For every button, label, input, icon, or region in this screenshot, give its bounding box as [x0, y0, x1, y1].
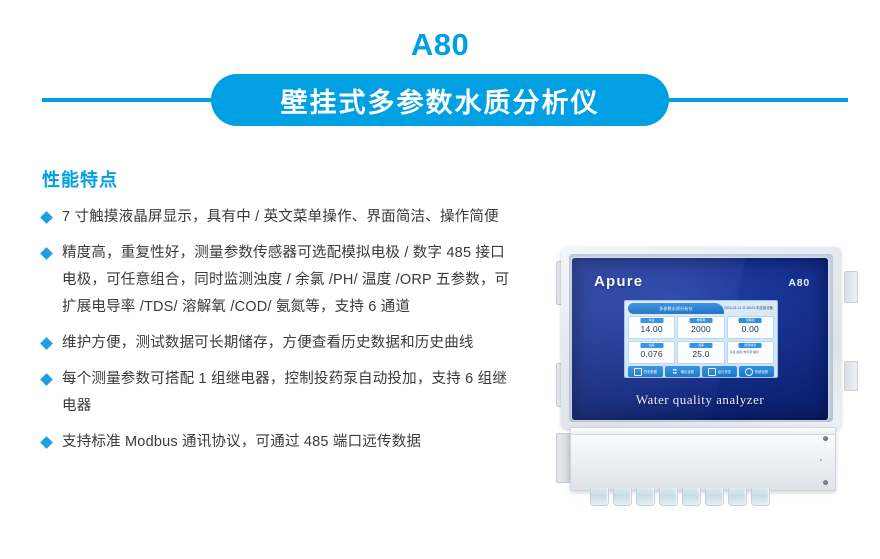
alarm-line-1: 余氯 超标 电导率 超标: [730, 350, 771, 354]
cable-gland: [636, 488, 655, 506]
cable-gland: [682, 488, 701, 506]
lcd-status-text: 2024-01-11 11:26:03 未连接设备: [724, 304, 773, 313]
measurement-value: 0.076: [629, 349, 674, 359]
list-item-text: 支持标准 Modbus 通讯协议，可通过 485 端口远传数据: [62, 434, 421, 450]
features-list: 7 寸触摸液晶屏显示，具有中 / 英文菜单操作、界面简洁、操作简便 精度高，重复…: [42, 204, 512, 456]
measurement-label: 电导率: [689, 318, 712, 323]
banner-rule-right: [658, 98, 848, 102]
measurement-label: 溶解氧: [739, 318, 762, 323]
banner-rule-left: [42, 98, 222, 102]
diamond-bullet-icon: [40, 211, 53, 224]
lcd-titlebar: 多参数水质分析仪 2024-01-11 11:26:03 未连接设备: [628, 303, 774, 314]
cable-gland: [613, 488, 632, 506]
measurement-label: 浊度: [640, 343, 663, 348]
measurement-value: 25.0: [678, 349, 723, 359]
cable-gland-row: [590, 488, 770, 506]
measurement-value: 0.00: [728, 324, 773, 334]
lcd-measurement-grid: 余氯 14.00 电导率 2000 溶解氧 0.00 浊度 0.076 温度: [625, 316, 777, 364]
cable-gland: [590, 488, 609, 506]
mounting-flange-right-top: [844, 271, 858, 303]
diamond-bullet-icon: [40, 373, 53, 386]
list-item-text: 每个测量参数可搭配 1 组继电器，控制投药泵自动投加，支持 6 组继电器: [62, 371, 507, 414]
lcd-display[interactable]: 多参数水质分析仪 2024-01-11 11:26:03 未连接设备 余氯 14…: [624, 300, 778, 378]
list-item: 支持标准 Modbus 通讯协议，可通过 485 端口远传数据: [42, 429, 512, 456]
gear-icon: [745, 368, 753, 376]
nav-button-system-settings[interactable]: 系统设置: [739, 366, 774, 377]
nav-button-run-status[interactable]: 运行状态: [702, 366, 737, 377]
data-record-icon: [634, 368, 642, 376]
measurement-tile[interactable]: 余氯 14.00: [628, 316, 675, 339]
measurement-value: 14.00: [629, 324, 674, 334]
list-item: 维护方便，测试数据可长期储存，方便查看历史数据和历史曲线: [42, 330, 512, 357]
measurement-label: 温度: [689, 343, 712, 348]
alarm-tile[interactable]: 报警信息 余氯 超标 电导率 超标: [727, 341, 774, 364]
device-faceplate: Apure A80 多参数水质分析仪 2024-01-11 11:26:03 未…: [572, 258, 828, 420]
product-photo: Apure A80 多参数水质分析仪 2024-01-11 11:26:03 未…: [548, 243, 866, 559]
screw-icon: [823, 480, 828, 485]
measurement-tile[interactable]: 溶解氧 0.00: [727, 316, 774, 339]
monitor-icon: [708, 368, 716, 376]
screw-icon: [823, 436, 828, 441]
list-item: 每个测量参数可搭配 1 组继电器，控制投药泵自动投加，支持 6 组继电器: [42, 366, 512, 420]
features-section: 性能特点 7 寸触摸液晶屏显示，具有中 / 英文菜单操作、界面简洁、操作简便 精…: [42, 168, 512, 465]
measurement-label: 余氯: [640, 318, 663, 323]
nav-button-label: 系统设置: [755, 369, 768, 374]
banner-title-pill: 壁挂式多参数水质分析仪: [211, 74, 669, 126]
measurement-value: 2000: [678, 324, 723, 334]
device-model-badge: A80: [788, 277, 810, 289]
nav-button-history-data[interactable]: 历史数据: [628, 366, 663, 377]
diamond-bullet-icon: [40, 247, 53, 260]
nav-button-label: 历史数据: [644, 369, 657, 374]
terminal-box-lip: [571, 428, 835, 435]
list-item-text: 精度高，重复性好，测量参数传感器可选配模拟电极 / 数字 485 接口电极，可任…: [62, 245, 509, 315]
grid-menu-icon: [671, 368, 679, 376]
title-banner-row: 壁挂式多参数水质分析仪: [0, 74, 880, 126]
cable-gland: [728, 488, 747, 506]
list-item-text: 维护方便，测试数据可长期储存，方便查看历史数据和历史曲线: [62, 335, 474, 351]
body-indicator-dot: [820, 459, 822, 461]
list-item: 7 寸触摸液晶屏显示，具有中 / 英文菜单操作、界面简洁、操作简便: [42, 204, 512, 231]
alarm-label: 报警信息: [739, 343, 762, 348]
brand-logo: Apure: [594, 273, 643, 290]
nav-button-output-settings[interactable]: 输出设置: [665, 366, 700, 377]
features-heading: 性能特点: [42, 168, 512, 192]
measurement-tile[interactable]: 电导率 2000: [677, 316, 724, 339]
measurement-tile[interactable]: 温度 25.0: [677, 341, 724, 364]
product-caption: Water quality analyzer: [572, 392, 828, 408]
list-item-text: 7 寸触摸液晶屏显示，具有中 / 英文菜单操作、界面简洁、操作简便: [62, 209, 499, 225]
cable-gland: [659, 488, 678, 506]
diamond-bullet-icon: [40, 337, 53, 350]
page-header: A80 壁挂式多参数水质分析仪: [0, 0, 880, 140]
cable-gland: [705, 488, 724, 506]
page-title-model: A80: [0, 26, 880, 64]
nav-button-label: 运行状态: [718, 369, 731, 374]
measurement-tile[interactable]: 浊度 0.076: [628, 341, 675, 364]
nav-button-label: 输出设置: [681, 369, 694, 374]
diamond-bullet-icon: [40, 436, 53, 449]
device-terminal-box: [570, 427, 836, 491]
lcd-title-tab[interactable]: 多参数水质分析仪: [628, 303, 724, 314]
lcd-navbar: 历史数据 输出设置 运行状态 系统设置: [625, 364, 777, 377]
list-item: 精度高，重复性好，测量参数传感器可选配模拟电极 / 数字 485 接口电极，可任…: [42, 240, 512, 321]
cable-gland: [751, 488, 770, 506]
mounting-flange-right-bottom: [844, 361, 858, 391]
